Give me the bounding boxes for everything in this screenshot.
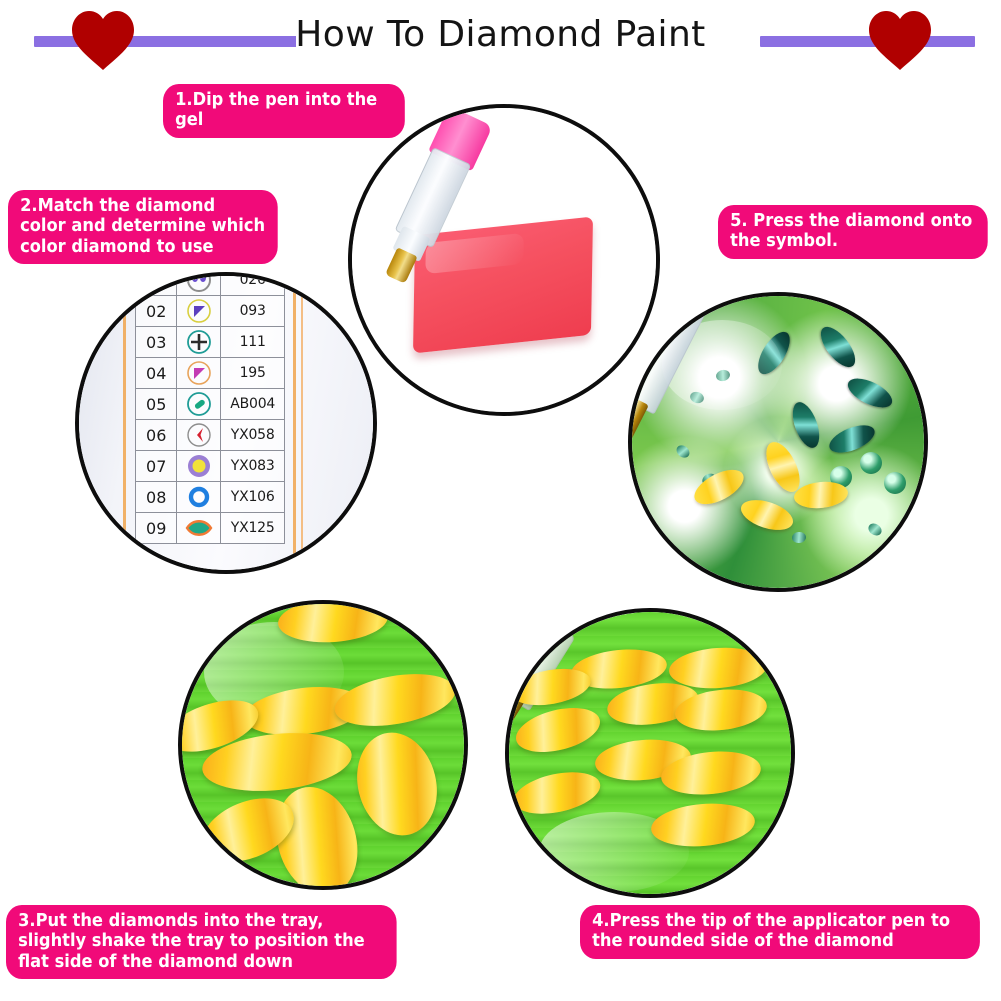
chart-cell-code: 111 <box>221 327 285 358</box>
double-dot-circle-icon <box>177 276 220 295</box>
pen-tip <box>632 394 649 457</box>
step-1-photo <box>348 104 660 416</box>
chart-cell-code: YX106 <box>221 482 285 513</box>
table-row: 09YX125 <box>136 513 285 544</box>
diamond-gem <box>510 765 604 820</box>
diamond-gem <box>277 604 390 646</box>
chart-cell-no: 08 <box>136 482 177 513</box>
chart-cell-symbol <box>177 482 221 513</box>
infographic-root: How To Diamond Paint 1.Dip the pen into … <box>0 0 1001 1001</box>
step-5-label: 5. Press the diamond onto the symbol. <box>718 205 988 259</box>
table-row: 08YX106 <box>136 482 285 513</box>
chart-cell-symbol <box>177 327 221 358</box>
triangle-flag-icon <box>177 358 220 388</box>
margin-line <box>123 276 126 570</box>
step-4-label: 4.Press the tip of the applicator pen to… <box>580 905 980 959</box>
leaf-eye-icon <box>177 513 220 543</box>
plus-cross-icon <box>177 327 220 357</box>
chart-cell-no: 04 <box>136 358 177 389</box>
table-row: 06YX058 <box>136 420 285 451</box>
table-row: 03111 <box>136 327 285 358</box>
chart-cell-no: 06 <box>136 420 177 451</box>
margin-line <box>301 276 303 570</box>
chart-cell-symbol <box>177 513 221 544</box>
open-ring-icon <box>177 482 220 512</box>
page-title: How To Diamond Paint <box>0 14 1001 55</box>
step-1-label: 1.Dip the pen into the gel <box>163 84 405 138</box>
slanted-capsule-icon <box>177 389 220 419</box>
chart-cell-symbol <box>177 451 221 482</box>
triangle-flag-icon <box>177 296 220 326</box>
chart-cell-code: 195 <box>221 358 285 389</box>
filled-dot-icon <box>177 451 220 481</box>
table-row: 04195 <box>136 358 285 389</box>
chart-cell-symbol <box>177 420 221 451</box>
table-row: 05AB004 <box>136 389 285 420</box>
step-2-label: 2.Match the diamond color and determine … <box>8 190 278 264</box>
step-4-photo <box>505 608 795 898</box>
chart-cell-no: 07 <box>136 451 177 482</box>
left-chevron-icon <box>177 420 220 450</box>
diamond-gem <box>649 800 756 851</box>
table-row: 02093 <box>136 296 285 327</box>
step-3-label: 3.Put the diamonds into the tray, slight… <box>6 905 397 979</box>
table-row: 07YX083 <box>136 451 285 482</box>
chart-cell-code: YX083 <box>221 451 285 482</box>
chart-cell-code: 026 <box>221 276 285 296</box>
chart-cell-code: AB004 <box>221 389 285 420</box>
step-5-photo <box>628 292 928 592</box>
chart-cell-symbol <box>177 389 221 420</box>
chart-cell-code: YX125 <box>221 513 285 544</box>
table-row: 026 <box>136 276 285 296</box>
chart-cell-code: 093 <box>221 296 285 327</box>
chart-cell-no <box>136 276 177 296</box>
diamond-gem <box>331 666 459 734</box>
chart-cell-symbol <box>177 296 221 327</box>
header: How To Diamond Paint <box>0 0 1001 80</box>
chart-cell-code: YX058 <box>221 420 285 451</box>
chart-cell-no: 05 <box>136 389 177 420</box>
chart-cell-symbol <box>177 276 221 296</box>
chart-cell-no: 03 <box>136 327 177 358</box>
step-2-photo: 02602093031110419505AB00406YX05807YX0830… <box>75 272 377 574</box>
chart-cell-no: 02 <box>136 296 177 327</box>
chart-cell-symbol <box>177 358 221 389</box>
margin-line <box>293 276 296 570</box>
chart-cell-no: 09 <box>136 513 177 544</box>
color-symbol-chart: 02602093031110419505AB00406YX05807YX0830… <box>135 276 285 544</box>
step-3-photo <box>178 600 468 890</box>
diamond-gem <box>347 724 448 844</box>
